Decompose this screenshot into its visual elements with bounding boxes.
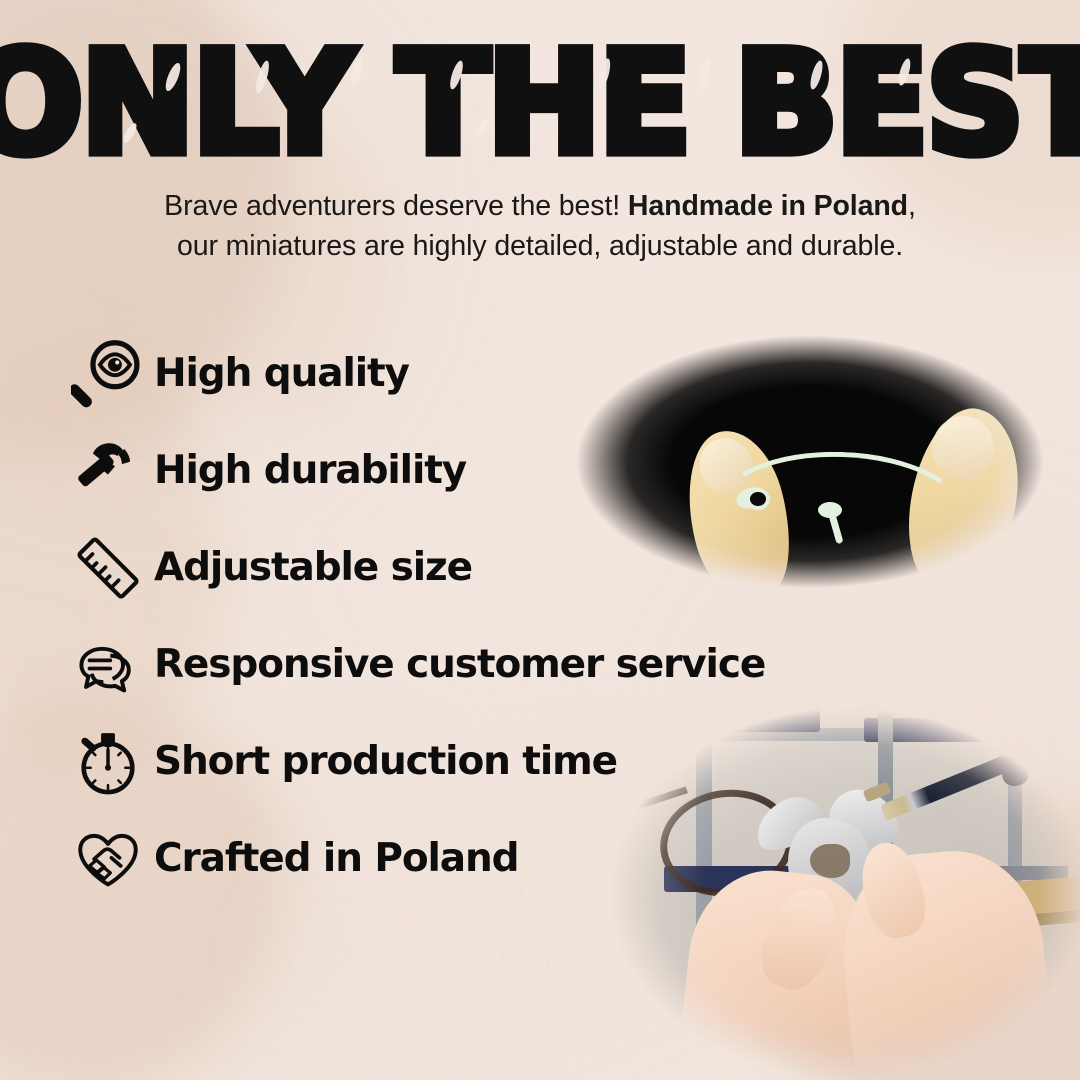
poster-canvas: ONLY THE BEST Brave adventurers deserve …: [0, 0, 1080, 1080]
feature-label: Crafted in Poland: [154, 836, 518, 881]
speech-bubbles-icon: [62, 628, 154, 702]
feature-item-high-durability: High durability: [62, 422, 792, 519]
page-title: ONLY THE BEST: [0, 34, 1080, 175]
miniature-shadow: [810, 844, 850, 878]
magnifier-eye-icon: [62, 337, 154, 411]
stopwatch-icon: [62, 725, 154, 799]
handshake-heart-icon: [62, 822, 154, 896]
feature-item-short-production-time: Short production time: [62, 713, 792, 810]
feature-label: Responsive customer service: [154, 642, 765, 687]
subtitle-line-2: our miniatures are highly detailed, adju…: [177, 230, 903, 262]
feature-item-responsive-customer-service: Responsive customer service: [62, 616, 792, 713]
feature-label: Short production time: [154, 739, 617, 784]
ruler-icon: [62, 531, 154, 605]
subtitle: Brave adventurers deserve the best! Hand…: [0, 186, 1080, 267]
miniature-tray: [864, 718, 1064, 742]
feature-item-crafted-in-poland: Crafted in Poland: [62, 810, 792, 907]
feature-item-adjustable-size: Adjustable size: [62, 519, 792, 616]
hammer-icon: [62, 434, 154, 508]
subtitle-highlight: Handmade in Poland: [628, 190, 908, 222]
feature-label: Adjustable size: [154, 545, 472, 590]
feature-list: High quality High durability: [62, 325, 792, 907]
feature-label: High durability: [154, 448, 466, 493]
feature-item-high-quality: High quality: [62, 325, 792, 422]
subtitle-line-1: Brave adventurers deserve the best! Hand…: [164, 190, 916, 222]
feature-label: High quality: [154, 351, 409, 396]
